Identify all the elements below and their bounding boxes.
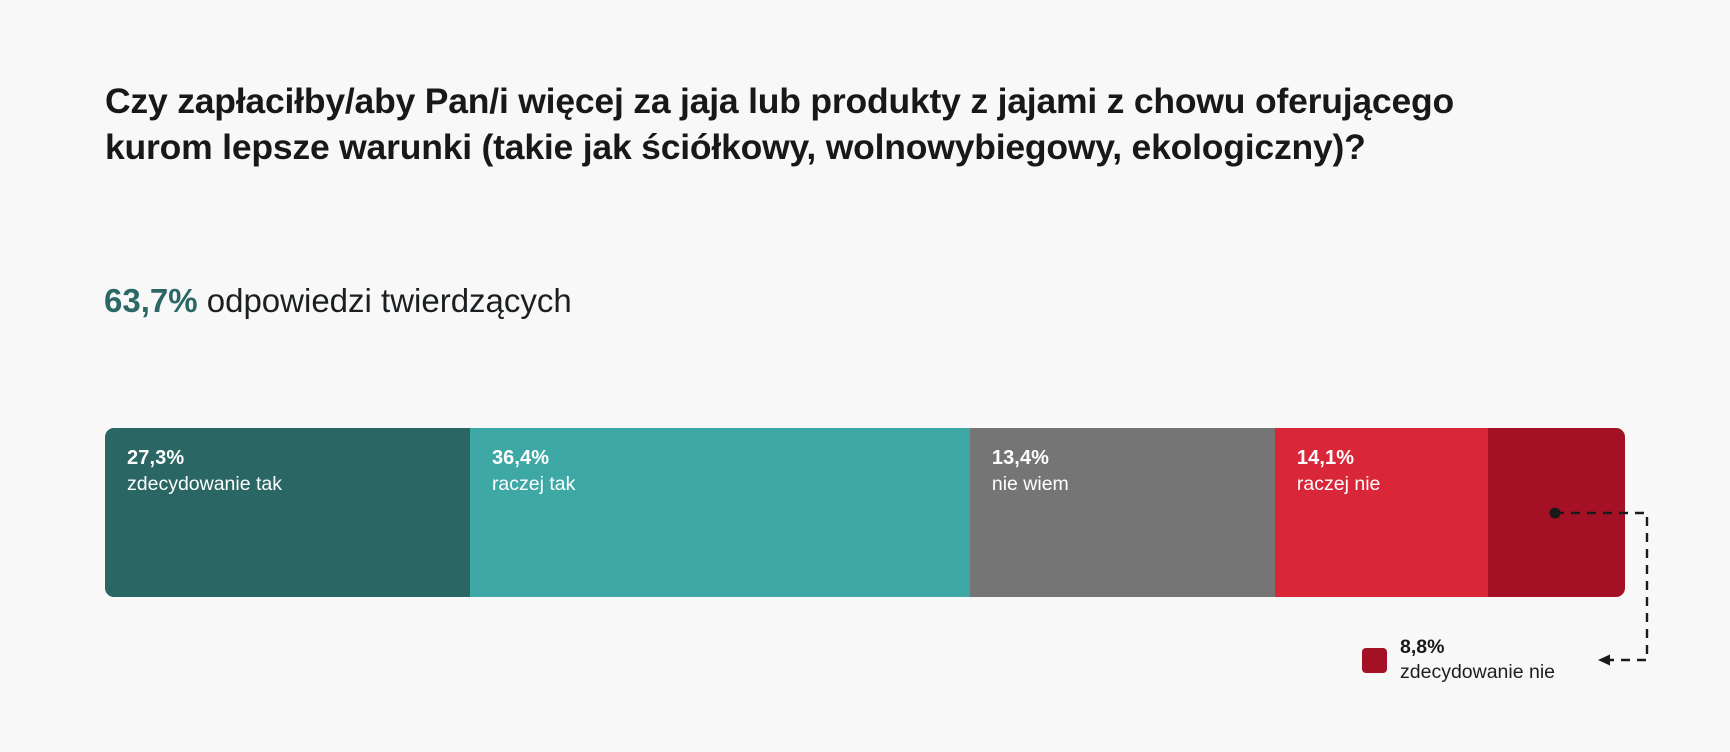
segment-label-group: 36,4% raczej tak (492, 446, 575, 497)
legend-text-group: 8,8% zdecydowanie nie (1400, 635, 1555, 686)
subtitle-highlight: 63,7% (104, 282, 198, 319)
segment-value: 13,4% (992, 446, 1069, 472)
subtitle: 63,7% odpowiedzi twierdzących (104, 283, 572, 319)
chart-canvas: Czy zapłaciłby/aby Pan/i więcej za jaja … (0, 0, 1730, 752)
segment-name: raczej tak (492, 472, 575, 497)
segment-name: raczej nie (1297, 472, 1380, 497)
segment-value: 27,3% (127, 446, 282, 472)
legend-item-zdecydowanie-nie[interactable]: 8,8% zdecydowanie nie (1362, 635, 1555, 686)
bar-segment-nie-wiem[interactable]: 13,4% nie wiem (970, 428, 1275, 597)
bar-segment-zdecydowanie-tak[interactable]: 27,3% zdecydowanie tak (105, 428, 470, 597)
segment-value: 14,1% (1297, 446, 1380, 472)
bar-segment-zdecydowanie-nie[interactable] (1488, 428, 1625, 597)
callout-arrowhead (1598, 655, 1610, 666)
segment-label-group: 27,3% zdecydowanie tak (127, 446, 282, 497)
segment-label-group: 14,1% raczej nie (1297, 446, 1380, 497)
legend-label: zdecydowanie nie (1400, 661, 1555, 683)
legend-value: 8,8% (1400, 636, 1444, 658)
legend-color-swatch (1362, 648, 1387, 673)
subtitle-rest: odpowiedzi twierdzących (198, 282, 572, 319)
segment-value: 36,4% (492, 446, 575, 472)
stacked-bar-chart: 27,3% zdecydowanie tak 36,4% raczej tak … (105, 428, 1625, 597)
page-title: Czy zapłaciłby/aby Pan/i więcej za jaja … (105, 78, 1465, 170)
bar-segment-raczej-tak[interactable]: 36,4% raczej tak (470, 428, 970, 597)
segment-label-group: 13,4% nie wiem (992, 446, 1069, 497)
bar-segment-raczej-nie[interactable]: 14,1% raczej nie (1275, 428, 1488, 597)
segment-name: zdecydowanie tak (127, 472, 282, 497)
segment-name: nie wiem (992, 472, 1069, 497)
